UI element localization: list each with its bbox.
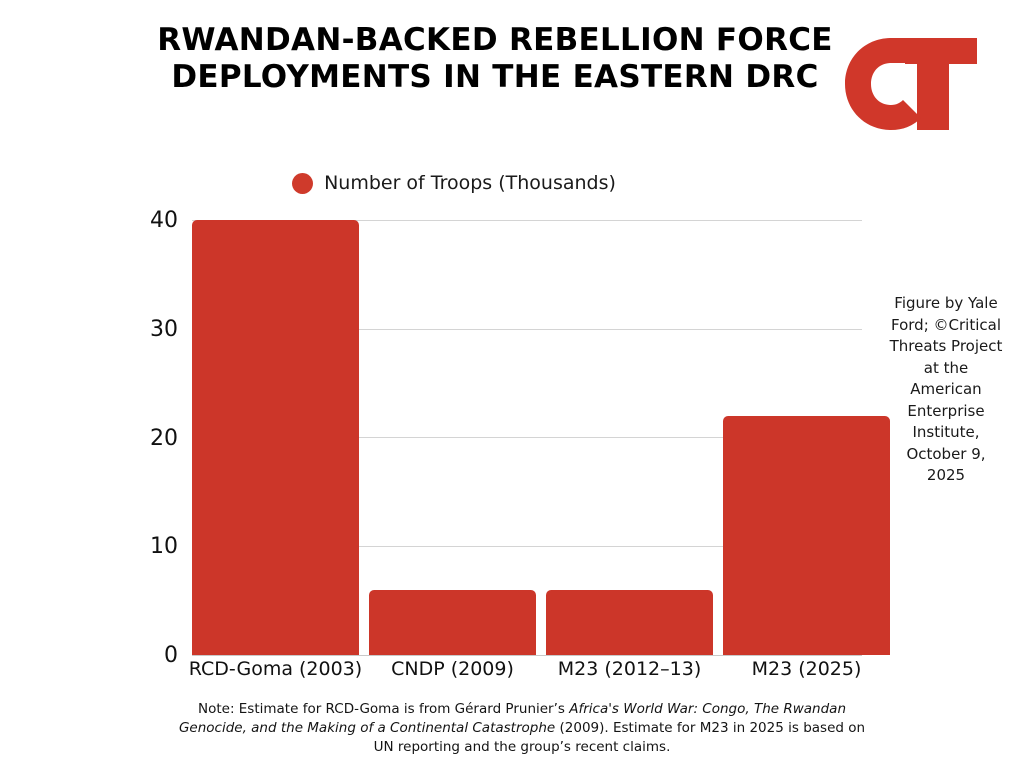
y-tick-label-20: 20 [120, 426, 178, 451]
y-tick-label-40: 40 [120, 208, 178, 233]
y-tick-label-30: 30 [120, 317, 178, 342]
x-tick-label-m23-2025: M23 (2025) [715, 658, 898, 680]
chart-plot-wrapper: 40 30 20 10 0 RCD-Goma (2003) CNDP (2009… [0, 0, 1024, 768]
footnote-note: Note: Estimate for RCD-Goma is from Géra… [172, 700, 872, 757]
bar-m23-2012-13[interactable] [546, 590, 713, 655]
x-axis-tick-labels: RCD-Goma (2003) CNDP (2009) M23 (2012–13… [192, 658, 862, 688]
x-axis-baseline [192, 655, 862, 656]
plot-area [192, 220, 862, 655]
y-tick-label-0: 0 [120, 643, 178, 668]
footnote-part-1: Note: Estimate for RCD-Goma is from Géra… [198, 701, 569, 717]
x-tick-label-cndp-2009: CNDP (2009) [361, 658, 544, 680]
x-tick-label-m23-2012-13: M23 (2012–13) [538, 658, 721, 680]
figure-credit: Figure by Yale Ford; ©Critical Threats P… [886, 293, 1006, 487]
y-tick-label-10: 10 [120, 534, 178, 559]
bar-cndp-2009[interactable] [369, 590, 536, 655]
bar-m23-2025[interactable] [723, 416, 890, 655]
x-tick-label-rcd-goma-2003: RCD-Goma (2003) [184, 658, 367, 680]
bar-rcd-goma-2003[interactable] [192, 220, 359, 655]
